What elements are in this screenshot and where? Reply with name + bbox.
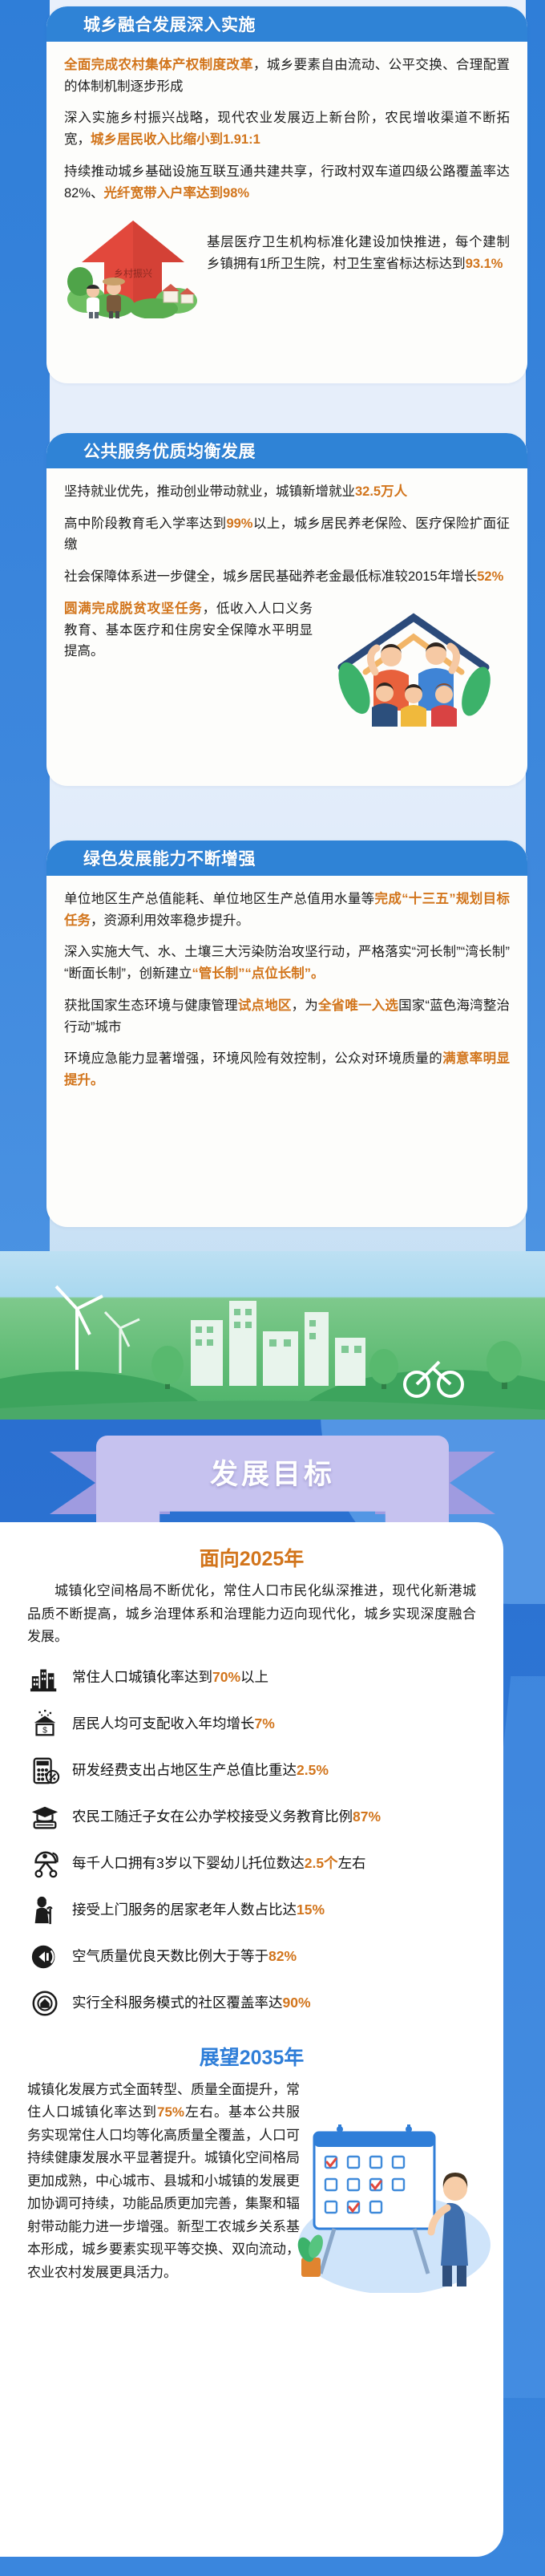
- card-body-green-development: 单位地区生产总值能耗、单位地区生产总值用水量等完成“十三五”规划目标任务，资源利…: [46, 876, 527, 1103]
- body-text: 基层医疗卫生机构标准化建设加快推进，每个建制乡镇拥有1所卫生院，村卫生室省标达标…: [207, 235, 510, 271]
- heading-2025: 面向2025年: [27, 1543, 476, 1572]
- paragraph: 全面完成农村集体产权制度改革，城乡要素自由流动、公平交换、合理配置的体制机制逐步…: [64, 55, 510, 97]
- highlighted-text: 2.5%: [297, 1762, 329, 1778]
- highlighted-text: 试点地区: [238, 998, 292, 1013]
- list-item-text: 接受上门服务的居家老年人数占比达15%: [72, 1900, 325, 1920]
- highlighted-text: 光纤宽带入户率达到98%: [104, 186, 250, 200]
- list-item-text: 居民人均可支配收入年均增长7%: [72, 1714, 275, 1734]
- body-text: 每千人口拥有3岁以下婴幼儿托位数达: [72, 1855, 305, 1871]
- highlighted-text: 70%: [212, 1669, 240, 1685]
- graduation-book-icon: [27, 1800, 63, 1835]
- list-item: $ 居民人均可支配收入年均增长7%: [27, 1707, 476, 1742]
- body-text: 环境应急能力显著增强，环境风险有效控制，公众对环境质量的: [64, 1051, 442, 1066]
- body-text: 高中阶段教育毛入学率达到: [64, 516, 226, 531]
- green-city-scene: [0, 1251, 545, 1426]
- highlighted-text: 93.1%: [466, 257, 503, 271]
- paragraph: 社会保障体系进一步健全，城乡居民基础养老金最低标准较2015年增长52%: [64, 566, 510, 588]
- list-item: 空气质量优良天数比例大于等于82%: [27, 1939, 476, 1975]
- paragraph: 圆满完成脱贫攻坚任务，低收入人口义务教育、基本医疗和住房安全保障水平明显提高。: [64, 598, 313, 662]
- svg-text:乡村振兴: 乡村振兴: [114, 268, 152, 279]
- highlighted-text: 32.5万人: [355, 484, 407, 499]
- list-item: 实行全科服务模式的社区覆盖率达90%: [27, 1986, 476, 2021]
- paragraph: 单位地区生产总值能耗、单位地区生产总值用水量等完成“十三五”规划目标任务，资源利…: [64, 889, 510, 931]
- highlighted-text: 90%: [283, 1995, 311, 2011]
- highlighted-text: 52%: [477, 569, 503, 584]
- heading-2035: 展望2035年: [27, 2042, 476, 2071]
- calendar-checklist-illustration: [290, 2108, 490, 2293]
- family-illustration: [317, 598, 510, 719]
- section-card-green-development: 绿色发展能力不断增强 单位地区生产总值能耗、单位地区生产总值用水量等完成“十三五…: [46, 840, 527, 1227]
- list-item: 每千人口拥有3岁以下婴幼儿托位数达2.5个左右: [27, 1846, 476, 1881]
- card-bottom-row: 乡村振兴: [64, 214, 510, 318]
- body-text: 坚持就业优先，推动创业带动就业，城镇新增就业: [64, 484, 355, 499]
- list-item-text: 每千人口拥有3岁以下婴幼儿托位数达2.5个左右: [72, 1853, 366, 1873]
- outlook-2035-block: 城镇化发展方式全面转型、质量全面提升，常住人口城镇化率达到75%左右。基本公共服…: [27, 2079, 476, 2285]
- infographic-page: 城乡融合发展深入实施 全面完成农村集体产权制度改革，城乡要素自由流动、公平交换、…: [0, 0, 545, 2576]
- highlighted-text: 7%: [255, 1715, 275, 1732]
- paragraph: 深入实施大气、水、土壤三大污染防治攻坚行动，严格落实“河长制”“湾长制”“断面长…: [64, 942, 510, 984]
- paragraph: 基层医疗卫生机构标准化建设加快推进，每个建制乡镇拥有1所卫生院，村卫生室省标达标…: [207, 232, 510, 274]
- paragraph: 深入实施乡村振兴战略，现代农业发展迈上新台阶，农民增收渠道不断拓宽，城乡居民收入…: [64, 107, 510, 150]
- section-card-urban-rural: 城乡融合发展深入实施 全面完成农村集体产权制度改革，城乡要素自由流动、公平交换、…: [46, 6, 527, 383]
- goals-banner-title: 发展目标: [48, 1452, 497, 1493]
- paragraph: 持续推动城乡基础设施互联互通共建共享，行政村双车道四级公路覆盖率达82%、光纤宽…: [64, 161, 510, 204]
- body-text: 左右。基本公共服务实现常住人口均等化高质量全覆盖，人口可持续健康发展水平显著提升…: [27, 2104, 300, 2280]
- highlighted-text: 城乡居民收入比缩小到1.91:1: [91, 132, 260, 147]
- right-blue-rail: [526, 0, 545, 1275]
- body-text: 单位地区生产总值能耗、单位地区生产总值用水量等: [64, 892, 375, 906]
- air-quality-icon: [27, 1939, 63, 1975]
- highlighted-text: 82%: [268, 1948, 297, 1964]
- money-box-icon: $: [27, 1707, 63, 1742]
- card-header-urban-rural: 城乡融合发展深入实施: [46, 6, 527, 42]
- body-text: 获批国家生态环境与健康管理: [64, 998, 238, 1013]
- list-item-text: 实行全科服务模式的社区覆盖率达90%: [72, 1993, 311, 2013]
- paragraph-2035: 城镇化发展方式全面转型、质量全面提升，常住人口城镇化率达到75%左右。基本公共服…: [27, 2079, 300, 2285]
- list-item: 农民工随迁子女在公办学校接受义务教育比例87%: [27, 1800, 476, 1835]
- body-text: 左右: [338, 1855, 366, 1871]
- list-item-text: 常住人口城镇化率达到70%以上: [72, 1667, 268, 1687]
- card-body-urban-rural: 全面完成农村集体产权制度改革，城乡要素自由流动、公平交换、合理配置的体制机制逐步…: [46, 42, 527, 323]
- card-bottom-row: 圆满完成脱贫攻坚任务，低收入人口义务教育、基本医疗和住房安全保障水平明显提高。: [64, 598, 510, 719]
- list-item-text: 研发经费支出占地区生产总值比重达2.5%: [72, 1760, 329, 1780]
- body-text: 农民工随迁子女在公办学校接受义务教育比例: [72, 1808, 353, 1825]
- card-body-public-service: 坚持就业优先，推动创业带动就业，城镇新增就业32.5万人 高中阶段教育毛入学率达…: [46, 468, 527, 730]
- body-text: 居民人均可支配收入年均增长: [72, 1715, 255, 1732]
- body-text: ，为: [292, 998, 318, 1013]
- list-item-text: 空气质量优良天数比例大于等于82%: [72, 1946, 297, 1966]
- card-title-public-service: 公共服务优质均衡发展: [83, 439, 256, 463]
- svg-text:$: $: [42, 1726, 47, 1735]
- highlighted-text: 全省唯一入选: [318, 998, 398, 1013]
- body-text: 社会保障体系进一步健全，城乡居民基础养老金最低标准较2015年增长: [64, 569, 477, 584]
- goal-indicator-list: 常住人口城镇化率达到70%以上 $ 居民人均可支配收入年均增长7% 研发经费支出…: [27, 1660, 476, 2021]
- body-text: ，资源利用效率稳步提升。: [91, 913, 249, 928]
- body-text: 接受上门服务的居家老年人数占比达: [72, 1902, 297, 1918]
- highlighted-text: 15%: [297, 1902, 325, 1918]
- highlighted-text: 99%: [226, 516, 252, 531]
- card-header-green-development: 绿色发展能力不断增强: [46, 840, 527, 876]
- development-goals-section: 发展目标 面向2025年 城镇化空间格局不断优化，常住人口市民化纵深推进，现代化…: [0, 1420, 545, 2576]
- paragraph: 高中阶段教育毛入学率达到99%以上，城乡居民养老保险、医疗保险扩面征缴: [64, 513, 510, 556]
- left-blue-rail: [0, 0, 50, 1274]
- list-item-text: 农民工随迁子女在公办学校接受义务教育比例87%: [72, 1807, 381, 1827]
- body-text: 空气质量优良天数比例大于等于: [72, 1948, 268, 1964]
- card-title-urban-rural: 城乡融合发展深入实施: [83, 12, 256, 36]
- highlighted-text: 75%: [157, 2104, 184, 2120]
- list-item: 研发经费支出占地区生产总值比重达2.5%: [27, 1753, 476, 1788]
- rural-revitalization-illustration: 乡村振兴: [64, 214, 202, 318]
- calculator-percent-icon: [27, 1753, 63, 1788]
- section-card-public-service: 公共服务优质均衡发展 坚持就业优先，推动创业带动就业，城镇新增就业32.5万人 …: [46, 433, 527, 786]
- paragraph: 环境应急能力显著增强，环境风险有效控制，公众对环境质量的满意率明显提升。: [64, 1048, 510, 1091]
- paragraph: 获批国家生态环境与健康管理试点地区，为全省唯一入选国家“蓝色海湾整治行动”城市: [64, 995, 510, 1038]
- highlighted-text: 2.5个: [305, 1855, 338, 1871]
- goals-white-panel: 面向2025年 城镇化空间格局不断优化，常住人口市民化纵深推进，现代化新港城品质…: [0, 1522, 503, 2557]
- goals-ribbon-banner: 发展目标: [48, 1434, 497, 1530]
- paragraph-2025: 城镇化空间格局不断优化，常住人口市民化纵深推进，现代化新港城品质不断提高，城乡治…: [27, 1580, 476, 1649]
- highlighted-text: 全面完成农村集体产权制度改革: [64, 58, 253, 72]
- stroller-icon: [27, 1846, 63, 1881]
- elderly-person-icon: [27, 1893, 63, 1928]
- highlighted-text: 圆满完成脱贫攻坚任务: [64, 601, 203, 616]
- list-item: 接受上门服务的居家老年人数占比达15%: [27, 1893, 476, 1928]
- body-text: 常住人口城镇化率达到: [72, 1669, 212, 1685]
- body-text: 研发经费支出占地区生产总值比重达: [72, 1762, 297, 1778]
- community-target-icon: [27, 1986, 63, 2021]
- list-item: 常住人口城镇化率达到70%以上: [27, 1660, 476, 1695]
- paragraph: 坚持就业优先，推动创业带动就业，城镇新增就业32.5万人: [64, 481, 510, 503]
- card-title-green-development: 绿色发展能力不断增强: [83, 846, 256, 870]
- body-text: 以上: [240, 1669, 268, 1685]
- card-header-public-service: 公共服务优质均衡发展: [46, 433, 527, 468]
- highlighted-text: “管长制”“点位长制”。: [192, 966, 325, 981]
- highlighted-text: 87%: [353, 1808, 381, 1825]
- city-buildings-icon: [27, 1660, 63, 1695]
- body-text: 实行全科服务模式的社区覆盖率达: [72, 1995, 283, 2011]
